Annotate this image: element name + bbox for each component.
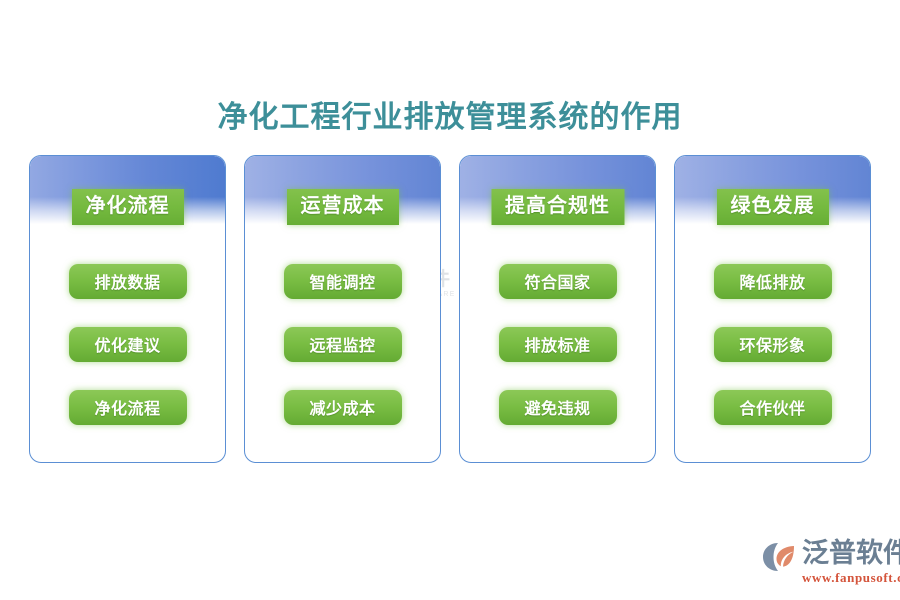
- card-4-items: 降低排放 环保形象 合作伙伴: [675, 264, 870, 425]
- fanpu-logo-icon: [762, 542, 796, 572]
- card-3[interactable]: 提高合规性 符合国家 排放标准 避免违规: [459, 155, 656, 463]
- card-2-item-1[interactable]: 智能调控: [284, 264, 402, 299]
- card-3-header-label: 提高合规性: [491, 189, 624, 225]
- card-1-item-1[interactable]: 排放数据: [69, 264, 187, 299]
- card-2-item-2[interactable]: 远程监控: [284, 327, 402, 362]
- card-2-header-label: 运营成本: [287, 189, 399, 225]
- card-4-header-label: 绿色发展: [717, 189, 829, 225]
- card-4-item-1[interactable]: 降低排放: [714, 264, 832, 299]
- card-2[interactable]: 运营成本 智能调控 远程监控 减少成本: [244, 155, 441, 463]
- brand-logo-text: 泛普软件 www.fanpusoft.com: [802, 540, 900, 586]
- card-3-item-1[interactable]: 符合国家: [499, 264, 617, 299]
- card-1-items: 排放数据 优化建议 净化流程: [30, 264, 225, 425]
- card-list: 净化流程 排放数据 优化建议 净化流程 运营成本 智能调控 远程监控 减少成本 …: [29, 155, 871, 463]
- brand-url[interactable]: www.fanpusoft.com: [802, 570, 900, 586]
- card-3-items: 符合国家 排放标准 避免违规: [460, 264, 655, 425]
- card-1-header-label: 净化流程: [72, 189, 184, 225]
- card-1[interactable]: 净化流程 排放数据 优化建议 净化流程: [29, 155, 226, 463]
- brand-name: 泛普软件: [802, 540, 900, 567]
- brand-logo[interactable]: 泛普软件 www.fanpusoft.com: [762, 540, 900, 586]
- card-2-items: 智能调控 远程监控 减少成本: [245, 264, 440, 425]
- card-2-item-3[interactable]: 减少成本: [284, 390, 402, 425]
- card-1-item-3[interactable]: 净化流程: [69, 390, 187, 425]
- card-4[interactable]: 绿色发展 降低排放 环保形象 合作伙伴: [674, 155, 871, 463]
- card-1-item-2[interactable]: 优化建议: [69, 327, 187, 362]
- card-4-item-3[interactable]: 合作伙伴: [714, 390, 832, 425]
- card-4-item-2[interactable]: 环保形象: [714, 327, 832, 362]
- card-3-item-2[interactable]: 排放标准: [499, 327, 617, 362]
- diagram-canvas: 净化工程行业排放管理系统的作用 泛普软件 FANPU SOFTWARE 净化流程…: [0, 0, 900, 600]
- card-3-item-3[interactable]: 避免违规: [499, 390, 617, 425]
- page-title: 净化工程行业排放管理系统的作用: [0, 92, 900, 136]
